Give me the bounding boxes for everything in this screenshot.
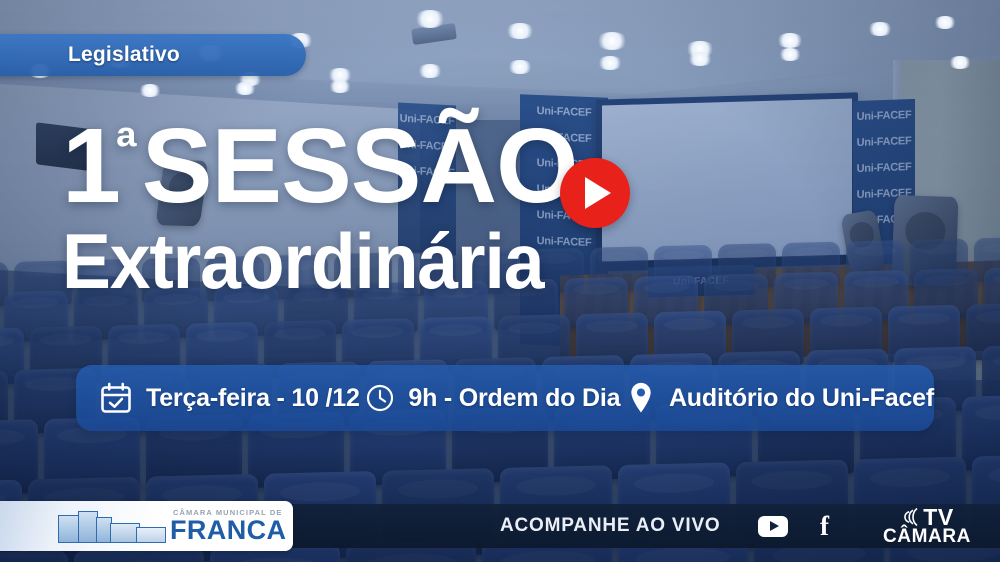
tv-camara-top-row: TV	[872, 506, 982, 528]
youtube-icon[interactable]	[758, 516, 788, 537]
location-pin-icon	[625, 381, 657, 415]
building-icon	[58, 509, 166, 543]
tv-camara-logo[interactable]: TV CÂMARA	[872, 506, 982, 548]
info-time-text: 9h - Ordem do Dia	[408, 384, 620, 413]
info-item-date: Terça-feira - 10 /12	[98, 380, 360, 416]
ceiling-light	[867, 22, 893, 36]
ceiling-light	[505, 23, 535, 40]
category-badge: Legislativo	[0, 34, 306, 76]
info-place-text: Auditório do Uni-Facef	[669, 384, 934, 413]
ceiling-light	[507, 60, 533, 74]
ceiling-light	[417, 64, 443, 78]
footer-bar: CÂMARA MUNICIPAL DE FRANCA ACOMPANHE AO …	[0, 504, 1000, 548]
play-triangle-icon	[585, 177, 611, 209]
ceiling-light	[414, 10, 446, 28]
info-date-text: Terça-feira - 10 /12	[146, 384, 360, 413]
session-number: 1	[62, 107, 120, 225]
live-label: ACOMPANHE AO VIVO	[500, 515, 721, 537]
calendar-icon	[98, 380, 134, 416]
logo-text-group: CÂMARA MUNICIPAL DE FRANCA	[170, 508, 286, 544]
session-word: SESSÃO	[142, 107, 578, 225]
youtube-play-triangle	[770, 521, 779, 531]
clock-icon	[364, 382, 396, 414]
ceiling-light	[687, 52, 713, 66]
info-item-place: Auditório do Uni-Facef	[625, 381, 934, 415]
ordinal-indicator: ª	[116, 115, 136, 178]
ceiling-light	[596, 32, 628, 50]
play-button[interactable]	[560, 158, 630, 228]
title-line-2: Extraordinária	[62, 222, 664, 300]
logo-title: FRANCA	[170, 517, 286, 544]
camara-franca-logo[interactable]: CÂMARA MUNICIPAL DE FRANCA	[0, 501, 293, 551]
event-banner: Uni-FACEF Uni-FACEF Uni-FACEF Uni-FACEF …	[0, 0, 1000, 562]
facebook-icon[interactable]: f	[820, 513, 829, 540]
category-badge-label: Legislativo	[68, 43, 180, 67]
info-item-time: 9h - Ordem do Dia	[364, 382, 620, 414]
tv-camara-camara-text: CÂMARA	[872, 527, 982, 546]
event-info-bar: Terça-feira - 10 /12 9h - Ordem do Dia A…	[76, 365, 934, 431]
ceiling-light	[597, 56, 623, 70]
